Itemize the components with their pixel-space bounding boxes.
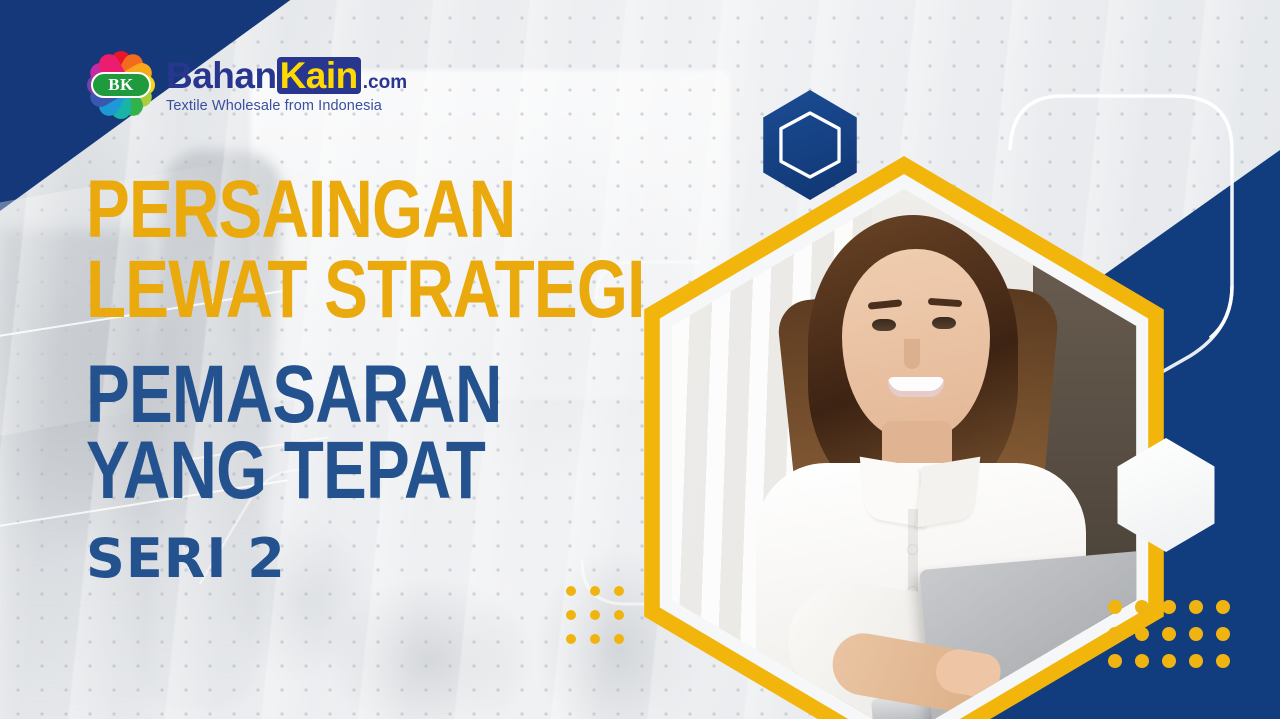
logo-name-com: .com — [363, 73, 407, 92]
headline-line-3: PEMASARAN — [86, 357, 645, 433]
brand-logo[interactable]: BK Bahan Kain .com Textile Wholesale fro… — [86, 50, 407, 120]
headline-line-4: YANG TEPAT — [86, 433, 645, 509]
banner-canvas: BK Bahan Kain .com Textile Wholesale fro… — [0, 0, 1280, 719]
bk-badge-text: BK — [108, 75, 134, 95]
dot-grid-large — [1108, 600, 1230, 668]
navy-hexagon-inner-outline — [777, 111, 843, 179]
bk-badge: BK — [91, 72, 151, 98]
logo-tagline: Textile Wholesale from Indonesia — [166, 99, 407, 114]
dot-grid-small — [566, 586, 624, 644]
logo-name-bahan: Bahan — [166, 57, 277, 94]
headline-block: PERSAINGAN LEWAT STRATEGI PEMASARAN YANG… — [86, 172, 784, 590]
headline-line-1: PERSAINGAN — [86, 172, 645, 248]
logo-name-kain: Kain — [277, 57, 361, 94]
white-hexagon-badge — [1110, 438, 1222, 552]
headline-line-2: LEWAT STRATEGI — [86, 252, 645, 328]
series-label: SERI 2 — [86, 527, 784, 590]
bahankain-flower-icon: BK — [86, 50, 156, 120]
